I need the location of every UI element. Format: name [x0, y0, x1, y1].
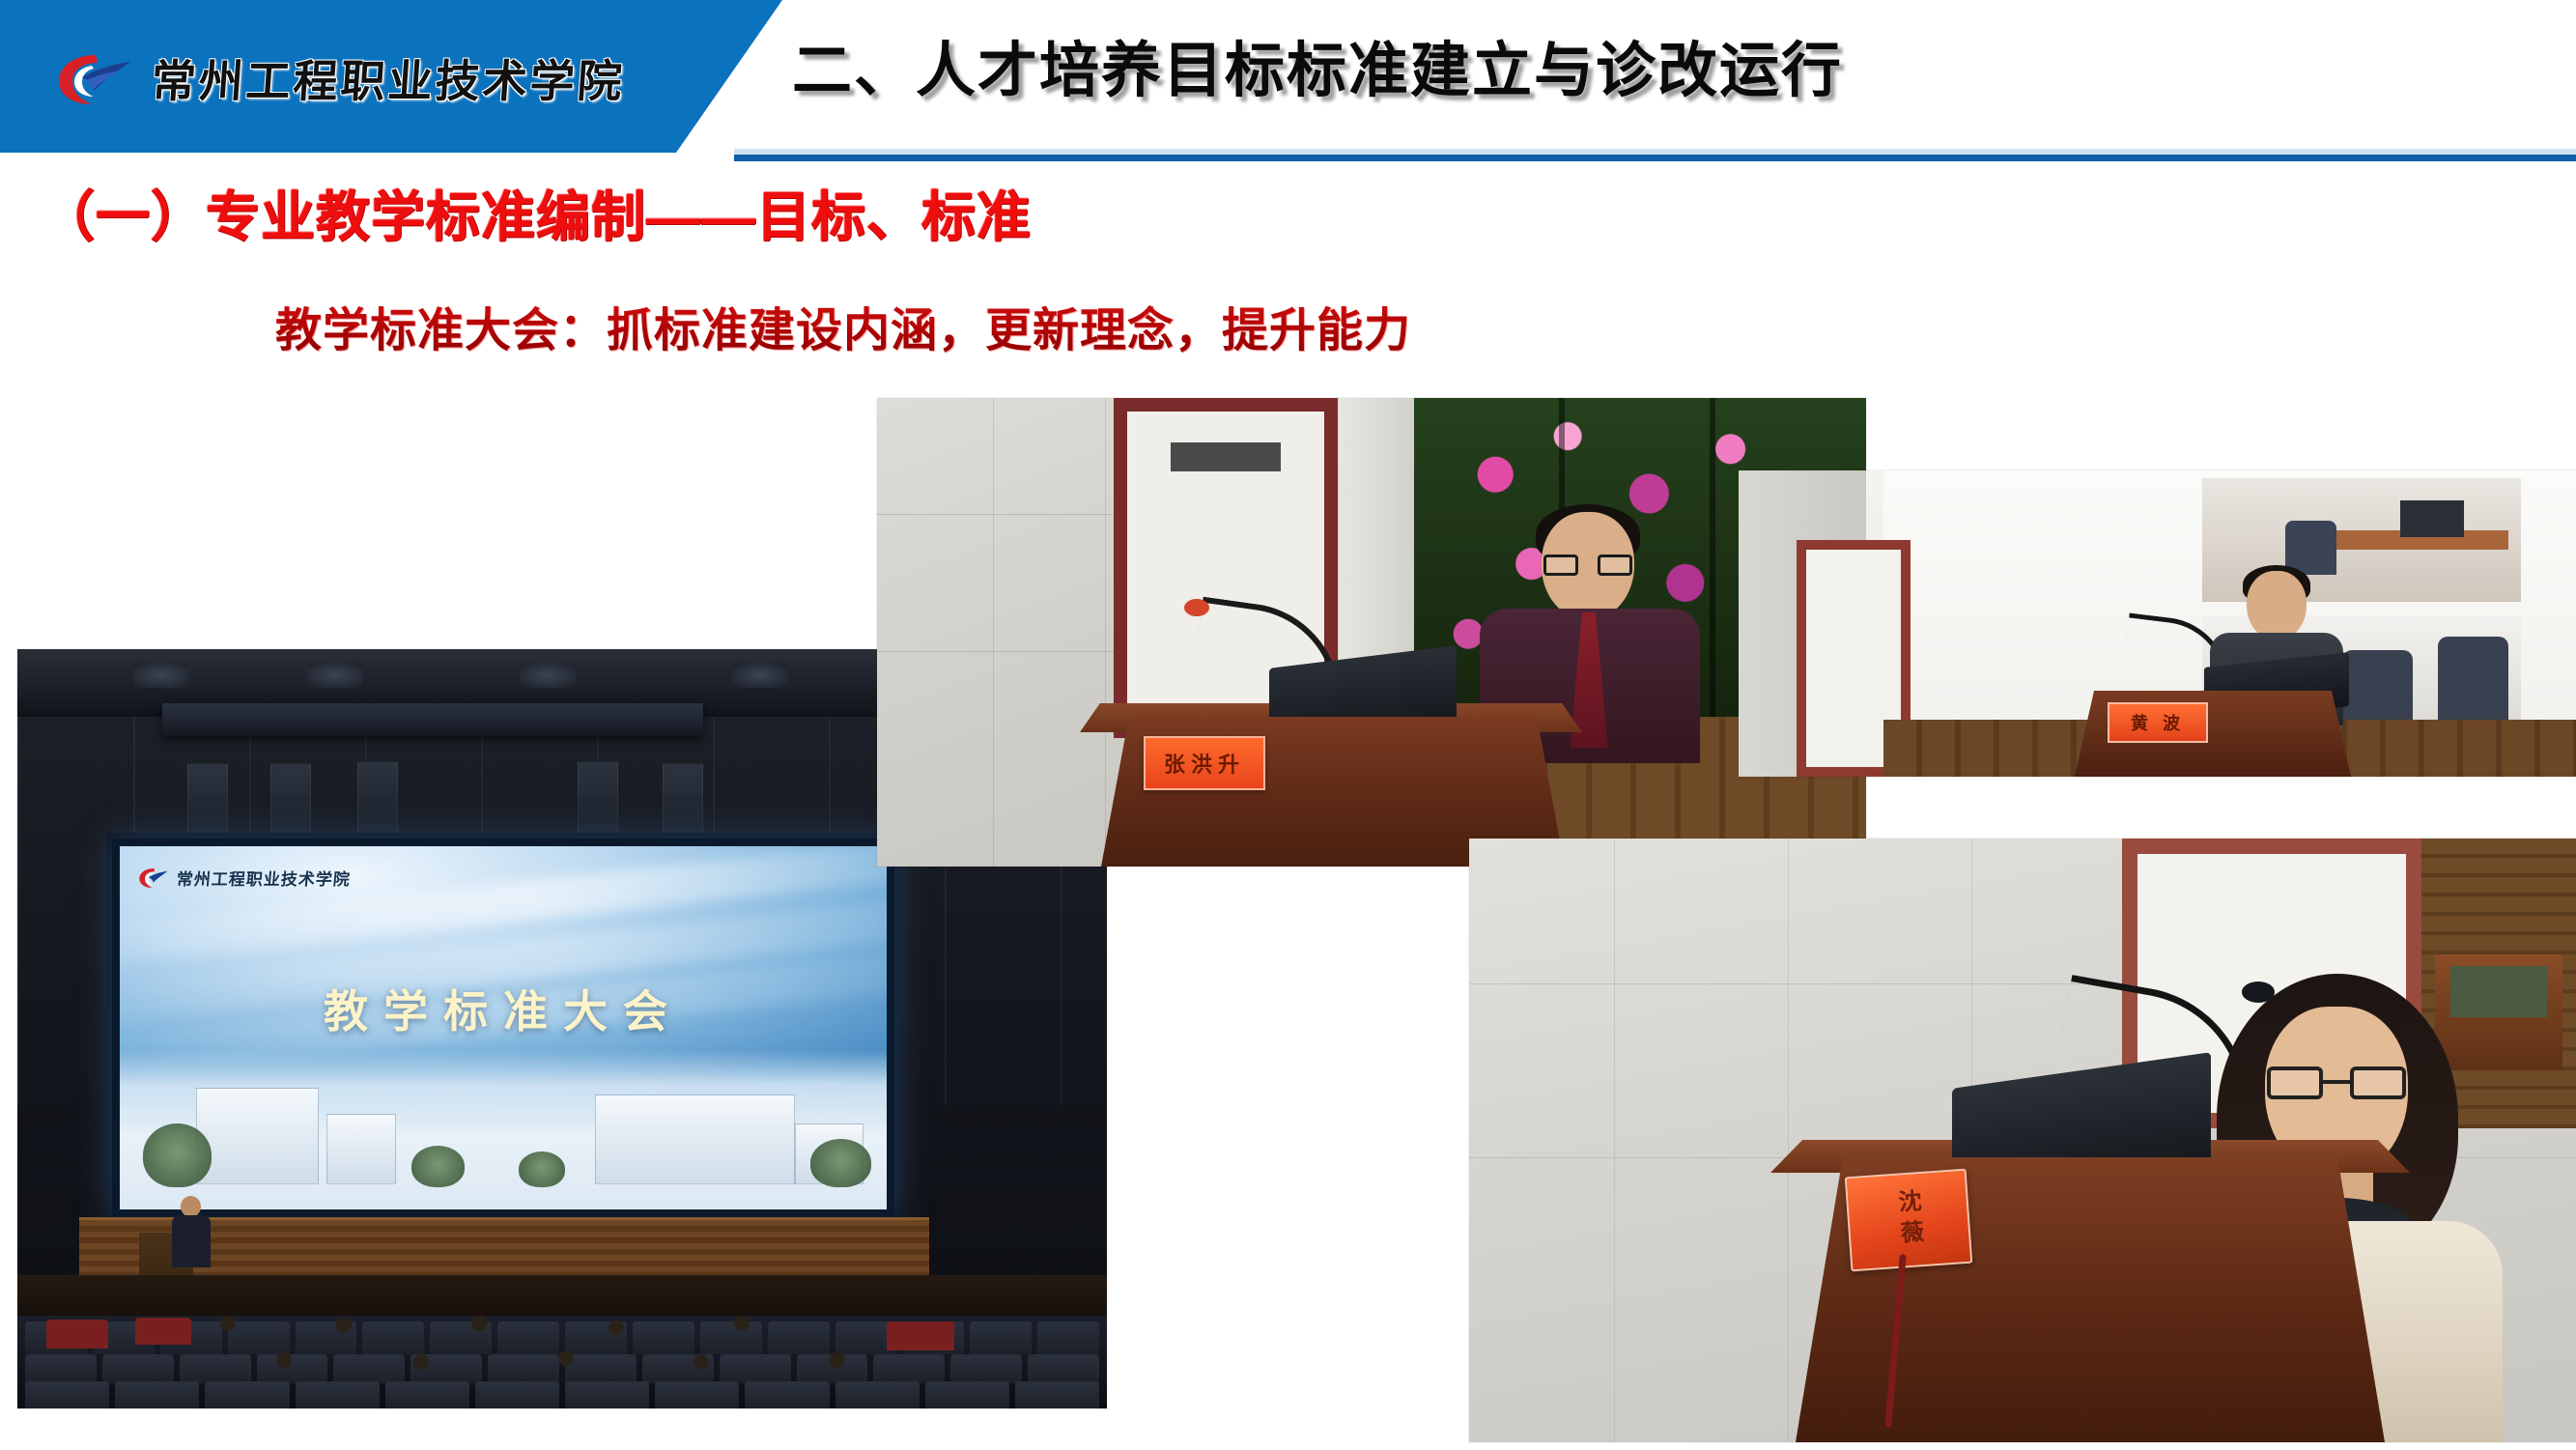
speaker-nameplate: 沈薇: [1845, 1169, 1973, 1272]
microphone-icon: [1184, 599, 1209, 616]
photo-speaker-right: 黄 波: [1739, 470, 2576, 777]
slide-canvas: 常州工程职业技术学院 二、人才培养目标标准建立与诊改运行 （一）专业教学标准编制…: [0, 0, 2576, 1450]
section-heading: （一）专业教学标准编制——目标、标准: [41, 174, 1032, 252]
page-title: 二、人才培养目标标准建立与诊改运行: [792, 21, 2511, 99]
screen-institution-logo: 常州工程职业技术学院: [137, 866, 351, 890]
audience-area: [17, 1316, 1107, 1408]
ceiling-light-icon: [732, 663, 788, 688]
institution-logo: 常州工程职业技术学院: [53, 46, 625, 110]
photo-speaker-middle: 张洪升: [877, 398, 1866, 867]
nameplate-text: 沈薇: [1889, 1188, 1927, 1252]
stage-speaker-figure: [172, 1196, 211, 1267]
ceiling-light-icon: [307, 663, 363, 688]
projection-screen: 常州工程职业技术学院 教学标准大会: [120, 846, 887, 1209]
lighting-truss: [162, 703, 703, 736]
swoosh-emblem-icon: [53, 48, 136, 108]
swoosh-emblem-icon: [137, 866, 170, 890]
section-subtitle: 教学标准大会：抓标准建设内涵，更新理念，提升能力: [275, 292, 1411, 359]
screen-title: 教学标准大会: [120, 977, 887, 1040]
screen-logo-text: 常州工程职业技术学院: [176, 866, 352, 890]
photo-speaker-bottom: 沈薇: [1469, 839, 2576, 1442]
institution-logo-text: 常州工程职业技术学院: [150, 46, 628, 110]
header-divider: [734, 155, 2576, 161]
screen-campus-photo: [120, 1050, 887, 1209]
ceiling-light-icon: [133, 663, 189, 688]
speaker-nameplate: 张洪升: [1144, 736, 1265, 790]
projection-screen-frame: 常州工程职业技术学院 教学标准大会: [112, 839, 894, 1217]
speaker-nameplate: 黄 波: [2108, 702, 2208, 743]
door-sign: [1171, 442, 1281, 470]
ceiling-light-icon: [520, 663, 576, 688]
